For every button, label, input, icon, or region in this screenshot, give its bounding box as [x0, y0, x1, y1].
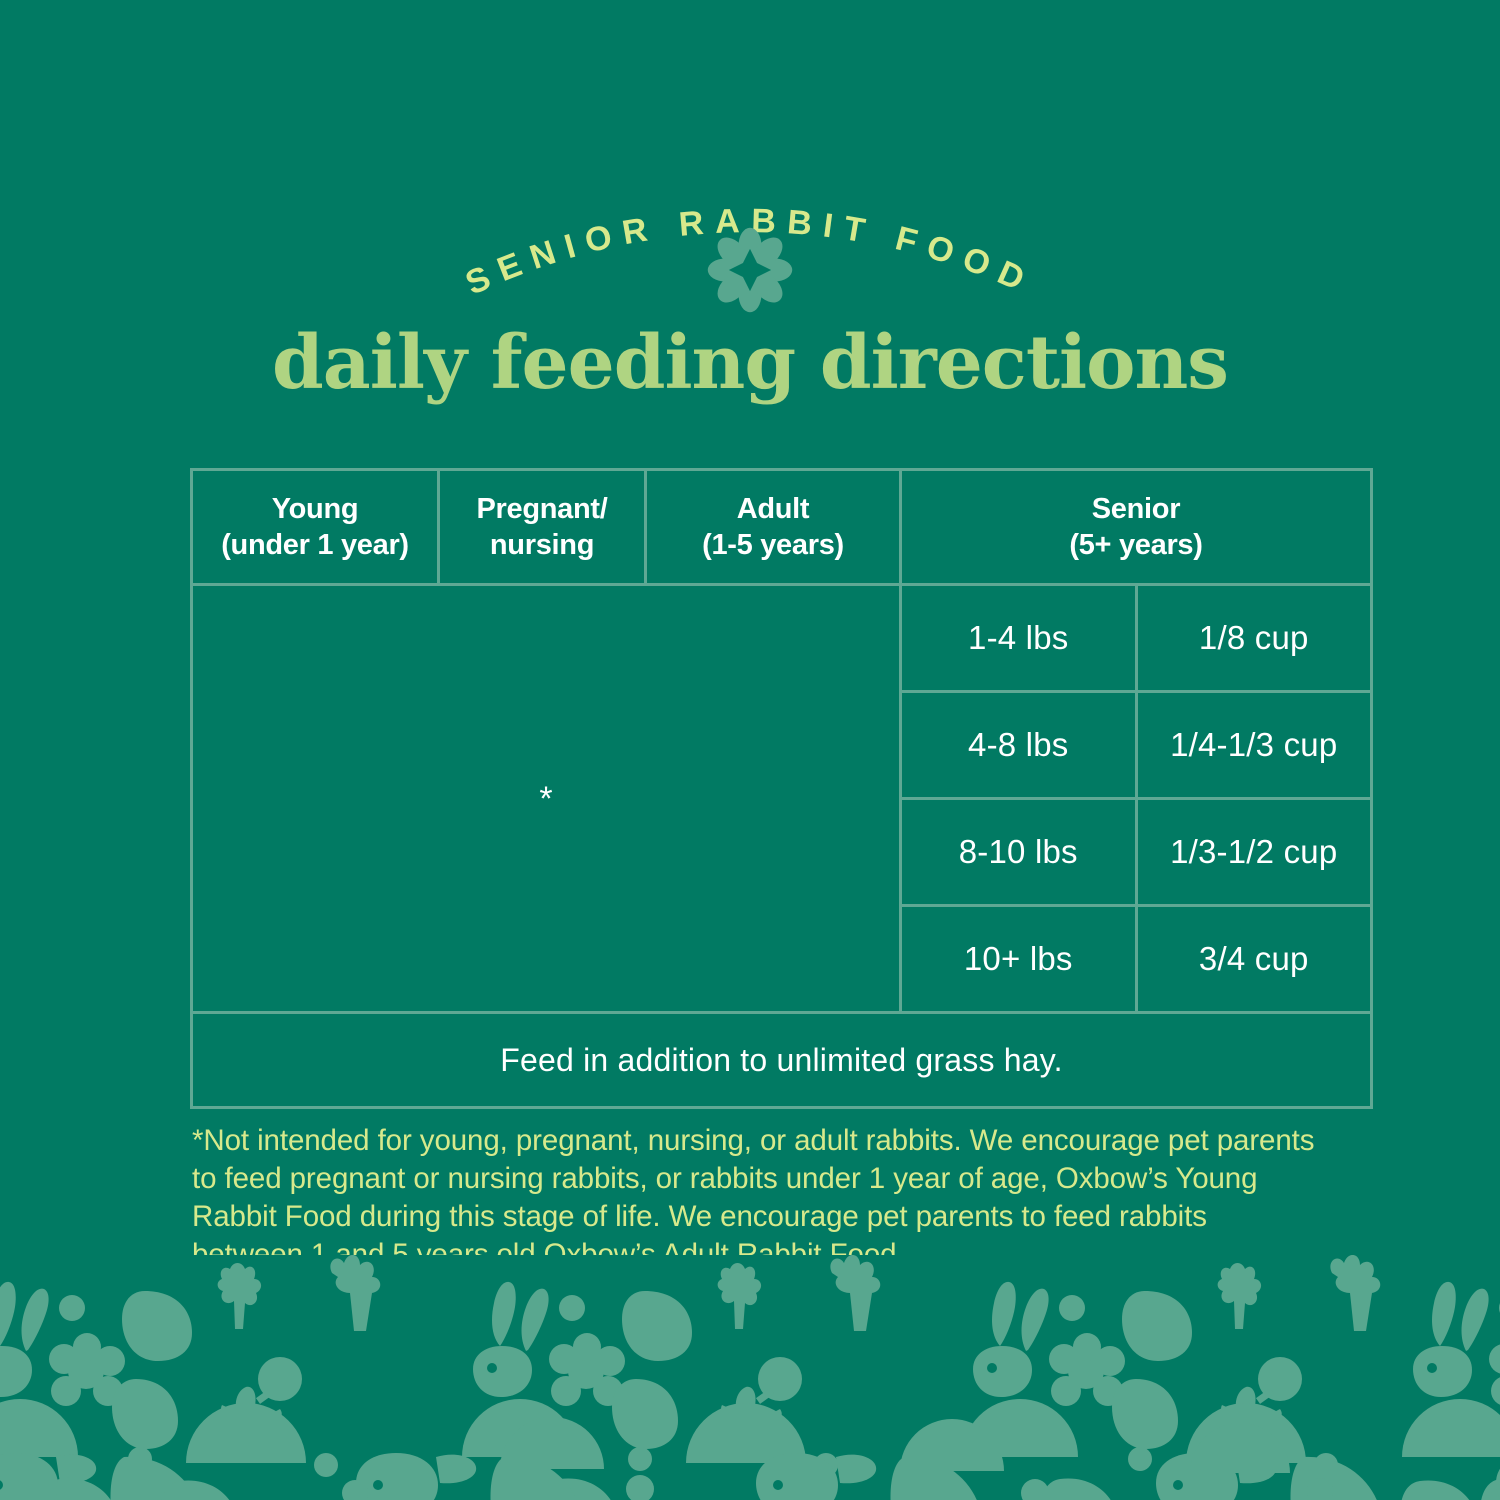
- column-header-adult: Adult (1-5 years): [646, 470, 901, 585]
- flower-rosette-icon: [706, 226, 794, 314]
- footnote-disclaimer: *Not intended for young, pregnant, nursi…: [192, 1122, 1320, 1274]
- table-footer-note: Feed in addition to unlimited grass hay.: [192, 1013, 1372, 1108]
- table-footer-row: Feed in addition to unlimited grass hay.: [192, 1013, 1372, 1108]
- column-header-adult-line1: Adult: [653, 491, 893, 527]
- senior-weight-cell: 10+ lbs: [901, 906, 1137, 1013]
- senior-amount-cell: 3/4 cup: [1136, 906, 1372, 1013]
- daily-feeding-table: Young (under 1 year) Pregnant/ nursing A…: [190, 468, 1373, 1109]
- decorative-pattern-band: [0, 1255, 1500, 1500]
- column-header-young-line1: Young: [199, 491, 431, 527]
- senior-weight-cell: 1-4 lbs: [901, 585, 1137, 692]
- page-title: daily feeding directions: [0, 326, 1500, 400]
- senior-amount-cell: 1/3-1/2 cup: [1136, 799, 1372, 906]
- column-header-pregnant-nursing: Pregnant/ nursing: [439, 470, 646, 585]
- column-header-pregnant-line2: nursing: [446, 527, 638, 563]
- column-header-senior-line1: Senior: [908, 491, 1364, 527]
- senior-amount-cell: 1/8 cup: [1136, 585, 1372, 692]
- senior-weight-cell: 8-10 lbs: [901, 799, 1137, 906]
- column-header-senior-line2: (5+ years): [908, 527, 1364, 563]
- senior-amount-cell: 1/4-1/3 cup: [1136, 692, 1372, 799]
- merged-asterisk-cell: *: [192, 585, 901, 1013]
- column-header-senior: Senior (5+ years): [901, 470, 1372, 585]
- senior-weight-cell: 4-8 lbs: [901, 692, 1137, 799]
- pattern-svg: [0, 1255, 1500, 1500]
- table-header-row: Young (under 1 year) Pregnant/ nursing A…: [192, 470, 1372, 585]
- column-header-young-line2: (under 1 year): [199, 527, 431, 563]
- column-header-young: Young (under 1 year): [192, 470, 439, 585]
- column-header-pregnant-line1: Pregnant/: [446, 491, 638, 527]
- table-row: * 1-4 lbs 1/8 cup: [192, 585, 1372, 692]
- column-header-adult-line2: (1-5 years): [653, 527, 893, 563]
